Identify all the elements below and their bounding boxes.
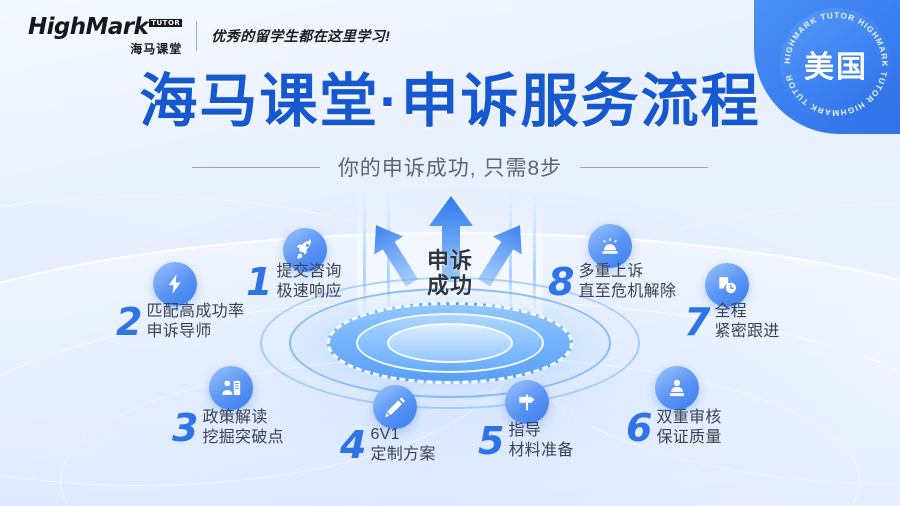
- step-8-body: 8 多重上诉 直至危机解除: [548, 262, 676, 301]
- poster-root: HighMarkTUTOR 海马课堂 优秀的留学生都在这里学习! HIGHMAR…: [0, 0, 900, 506]
- step-4-label: 6V1 定制方案: [370, 425, 435, 464]
- step-6-line1: 双重审核: [656, 408, 721, 428]
- step-6-line2: 保证质量: [656, 428, 721, 448]
- clock-document-icon: [705, 263, 749, 307]
- step-7-line1: 全程: [714, 302, 779, 322]
- step-7-body: 7 全程 紧密跟进: [684, 302, 780, 341]
- step-1-number: 1: [246, 263, 272, 301]
- page-subtitle: 你的申诉成功, 只需8步: [338, 152, 562, 182]
- step-2-number: 2: [116, 303, 142, 341]
- signpost-icon: [505, 380, 549, 424]
- step-7-label: 全程 紧密跟进: [714, 302, 779, 341]
- step-3-number: 3: [172, 409, 198, 447]
- step-3-line1: 政策解读: [202, 408, 284, 428]
- step-5-number: 5: [478, 422, 504, 460]
- step-4-line1: 6V1: [370, 425, 435, 445]
- step-2-line2: 申诉导师: [146, 322, 244, 342]
- step-8-label: 多重上诉 直至危机解除: [578, 262, 676, 301]
- logo-wordmark-text: HighMark: [28, 14, 148, 40]
- header: HighMarkTUTOR 海马课堂 优秀的留学生都在这里学习!: [28, 14, 390, 58]
- subtitle-row: 你的申诉成功, 只需8步: [0, 152, 900, 182]
- step-5-line2: 材料准备: [508, 441, 573, 461]
- lightning-icon: [153, 262, 197, 306]
- step-7-line2: 紧密跟进: [714, 322, 779, 342]
- step-3-line2: 挖掘突破点: [202, 428, 284, 448]
- step-1-body: 1 提交咨询 极速响应: [246, 262, 342, 301]
- header-divider: [196, 21, 197, 51]
- subtitle-rule-right: [580, 167, 708, 168]
- subtitle-rule-left: [192, 167, 320, 168]
- step-8-line1: 多重上诉: [578, 262, 676, 282]
- stamp-icon: [655, 366, 699, 410]
- step-3-label: 政策解读 挖掘突破点: [202, 408, 284, 447]
- step-7-number: 7: [684, 303, 710, 341]
- step-2-line1: 匹配高成功率: [146, 302, 244, 322]
- step-8-number: 8: [548, 263, 574, 301]
- pencil-icon: [373, 385, 417, 429]
- step-1-label: 提交咨询 极速响应: [276, 262, 341, 301]
- step-4-body: 4 6V1 定制方案: [340, 425, 436, 464]
- brand-logo[interactable]: HighMarkTUTOR 海马课堂: [28, 16, 182, 57]
- step-5-body: 5 指导 材料准备: [478, 421, 574, 460]
- hero-label-line1: 申诉: [335, 248, 565, 273]
- step-2-label: 匹配高成功率 申诉导师: [146, 302, 244, 341]
- step-4-line2: 定制方案: [370, 445, 435, 465]
- step-3-body: 3 政策解读 挖掘突破点: [172, 408, 284, 447]
- step-6-body: 6 双重审核 保证质量: [626, 408, 722, 447]
- step-5-line1: 指导: [508, 421, 573, 441]
- step-8-line2: 直至危机解除: [578, 282, 676, 302]
- step-6-number: 6: [626, 409, 652, 447]
- logo-tutor-tag: TUTOR: [149, 19, 182, 27]
- step-1-line2: 极速响应: [276, 282, 341, 302]
- step-1-line1: 提交咨询: [276, 262, 341, 282]
- person-document-icon: [209, 366, 253, 410]
- step-5-label: 指导 材料准备: [508, 421, 573, 460]
- page-title: 海马课堂·申诉服务流程: [0, 72, 900, 133]
- hero-label: 申诉 成功: [335, 248, 565, 299]
- logo-wordmark: HighMarkTUTOR: [28, 16, 182, 39]
- hero-label-line2: 成功: [335, 273, 565, 298]
- hero-graphic: 申诉 成功: [335, 190, 565, 375]
- logo-chinese-name: 海马课堂: [28, 40, 182, 57]
- step-2-body: 2 匹配高成功率 申诉导师: [116, 302, 244, 341]
- header-tagline: 优秀的留学生都在这里学习!: [211, 26, 390, 46]
- step-4-number: 4: [340, 426, 366, 464]
- step-6-label: 双重审核 保证质量: [656, 408, 721, 447]
